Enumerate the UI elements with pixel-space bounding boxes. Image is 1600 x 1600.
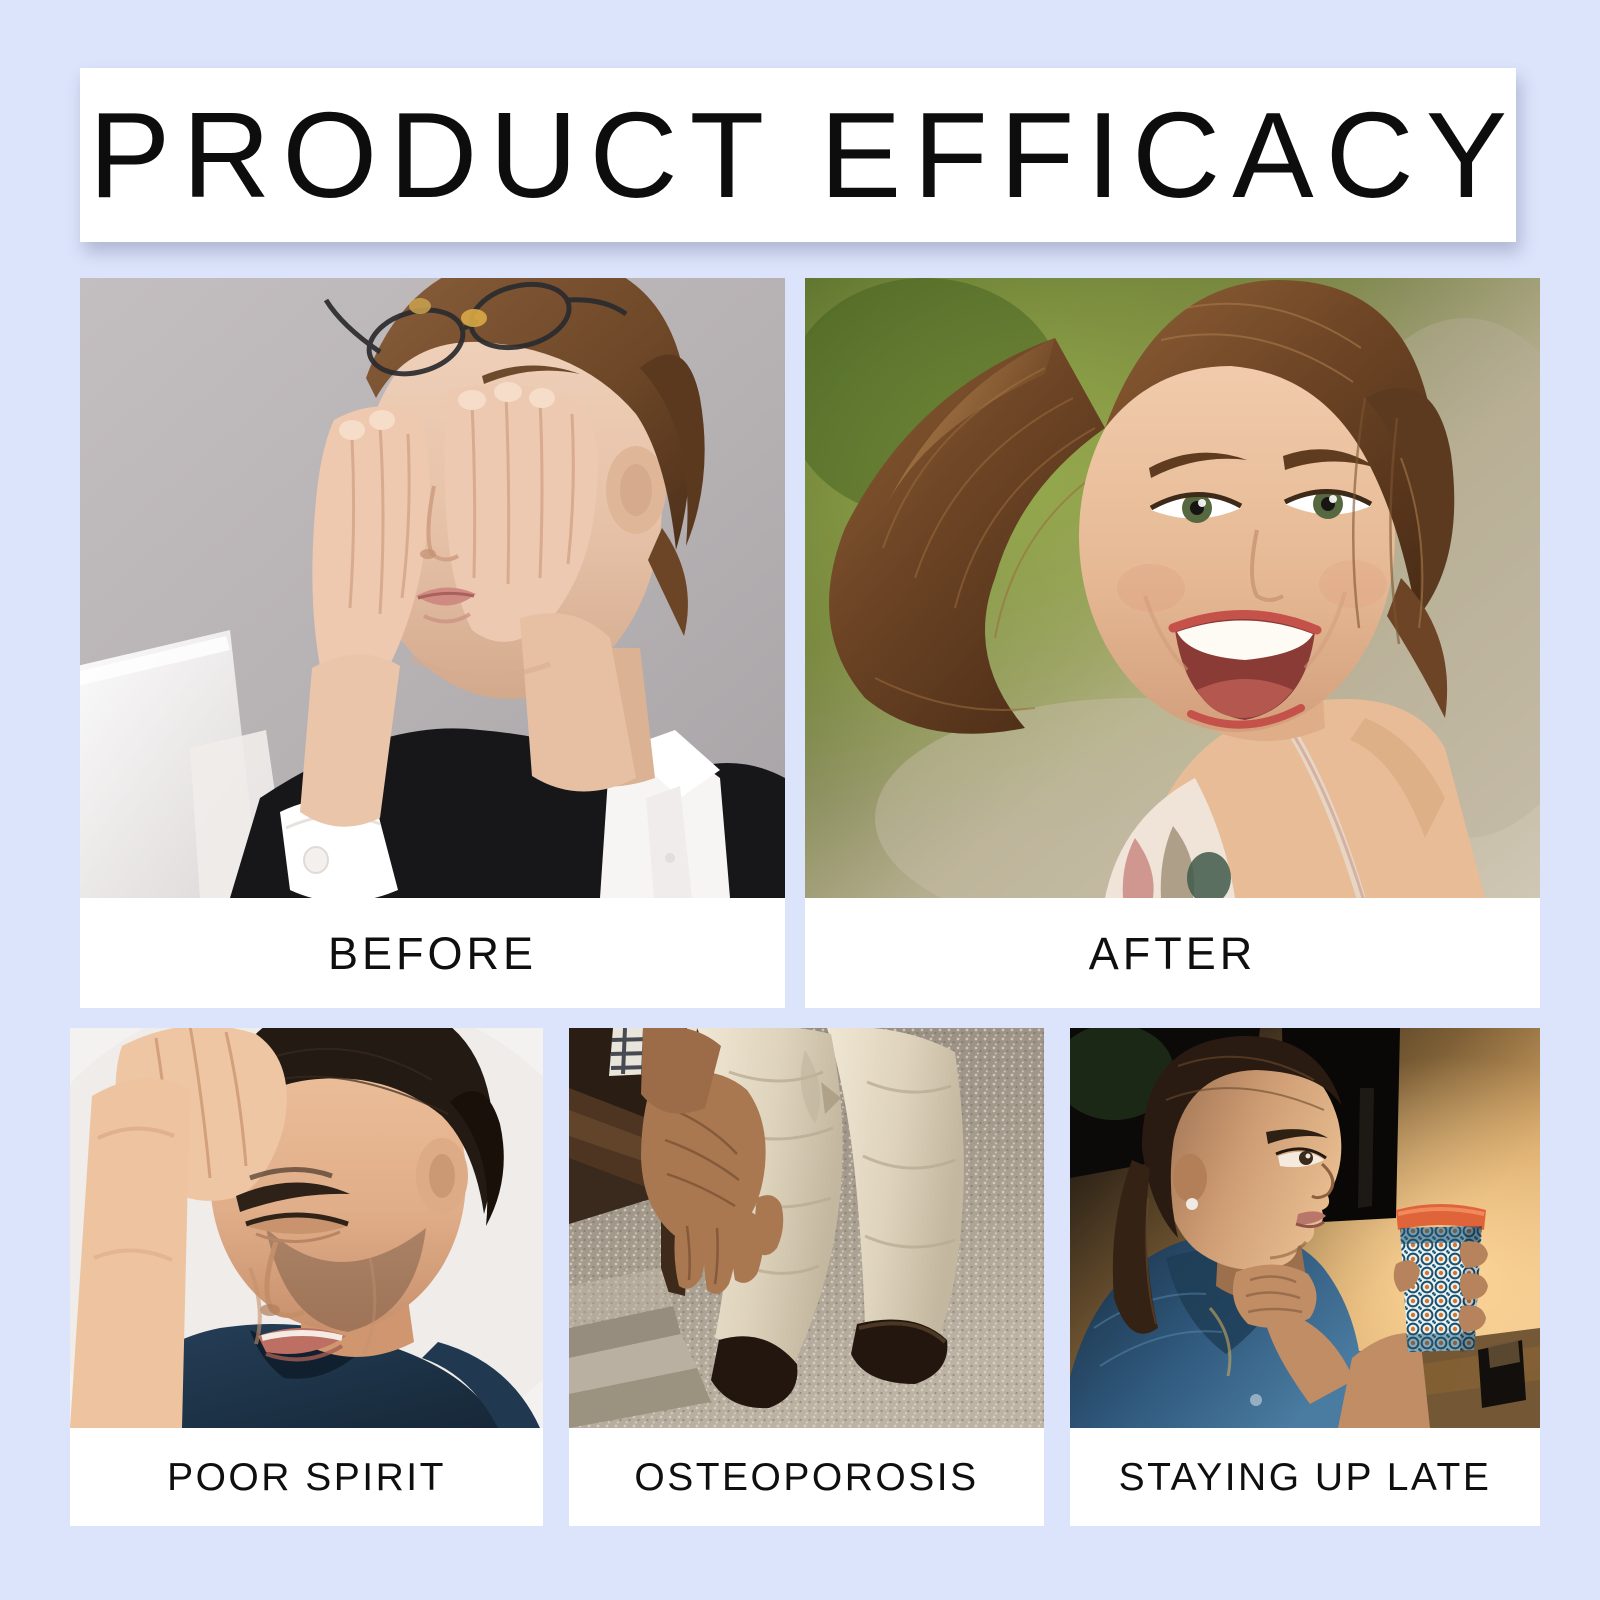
poor-spirit-card: POOR SPIRIT xyxy=(70,1028,543,1526)
staying-up-late-label: STAYING UP LATE xyxy=(1119,1458,1492,1497)
osteoporosis-photo xyxy=(569,1028,1044,1428)
staying-up-late-caption: STAYING UP LATE xyxy=(1070,1428,1540,1526)
before-label: BEFORE xyxy=(328,931,537,976)
after-caption: AFTER xyxy=(805,898,1540,1008)
osteoporosis-caption: OSTEOPOROSIS xyxy=(569,1428,1044,1526)
poor-spirit-label: POOR SPIRIT xyxy=(167,1458,446,1497)
page-title: PRODUCT EFFICACY xyxy=(80,94,1516,216)
poster-canvas: PRODUCT EFFICACY xyxy=(0,0,1600,1600)
after-photo xyxy=(805,278,1540,898)
osteoporosis-card: OSTEOPOROSIS xyxy=(569,1028,1044,1526)
poor-spirit-photo xyxy=(70,1028,543,1428)
osteoporosis-label: OSTEOPOROSIS xyxy=(634,1458,978,1497)
after-card: AFTER xyxy=(805,278,1540,1008)
before-caption: BEFORE xyxy=(80,898,785,1008)
after-label: AFTER xyxy=(1089,931,1257,976)
poor-spirit-caption: POOR SPIRIT xyxy=(70,1428,543,1526)
staying-up-late-card: STAYING UP LATE xyxy=(1070,1028,1540,1526)
before-card: BEFORE xyxy=(80,278,785,1008)
staying-up-late-photo xyxy=(1070,1028,1540,1428)
before-photo xyxy=(80,278,785,898)
title-banner: PRODUCT EFFICACY xyxy=(80,68,1516,242)
